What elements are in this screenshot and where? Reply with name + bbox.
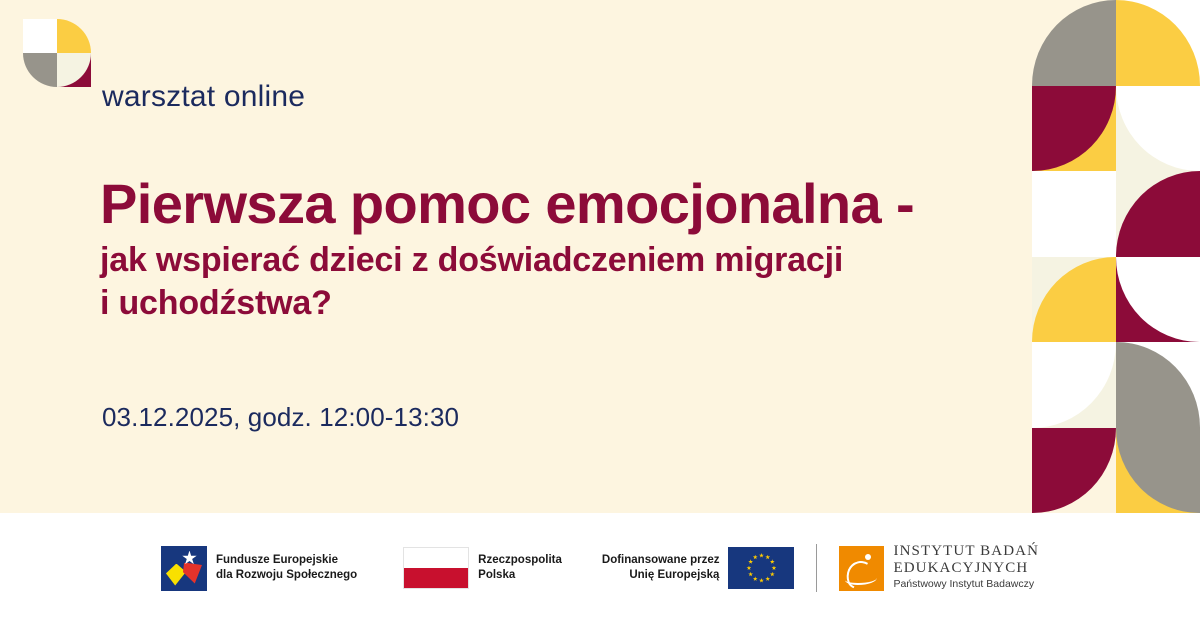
ue-caption: Dofinansowane przez Unię Europejską <box>602 553 720 583</box>
event-kicker: warsztat online <box>102 80 305 114</box>
ibe-brand-mark-icon <box>23 19 91 87</box>
pattern-cell-r4-c1 <box>1116 342 1200 428</box>
eu-star-icon <box>748 572 753 577</box>
eu-star-icon <box>748 559 753 564</box>
ue-caption-line-1: Dofinansowane przez <box>602 553 720 568</box>
logo-rzeczpospolita-polska: Rzeczpospolita Polska <box>403 547 562 589</box>
pattern-cell-r3-c1 <box>1116 257 1200 343</box>
footer-logo-strip: Fundusze Europejskie dla Rozwoju Społecz… <box>0 513 1200 627</box>
fe-red-arrow-icon <box>183 563 202 584</box>
fe-yellow-arrow-icon <box>166 564 186 586</box>
brandmark-quadrant-top-right <box>57 19 91 53</box>
brandmark-quadrant-top-left <box>23 19 57 53</box>
footer-divider <box>816 544 817 592</box>
page-subtitle-line-2: i uchodźstwa? <box>100 282 1000 325</box>
rzeczpospolita-caption: Rzeczpospolita Polska <box>478 553 562 583</box>
eu-star-icon <box>771 566 776 571</box>
ue-caption-line-2: Unię Europejską <box>602 568 720 583</box>
decorative-pattern <box>1032 0 1200 513</box>
pattern-cell-r3-c0 <box>1032 257 1116 343</box>
eu-star-icon <box>753 555 758 560</box>
pattern-cell-r2-c1 <box>1116 171 1200 257</box>
logo-fundusze-europejskie: Fundusze Europejskie dla Rozwoju Społecz… <box>161 546 357 591</box>
pattern-cell-r5-c0 <box>1032 428 1116 514</box>
ibe-figure-dot-icon <box>865 554 871 560</box>
pattern-cell-shape-square <box>1032 171 1116 257</box>
eu-star-icon <box>746 566 751 571</box>
ibe-caption: INSTYTUT BADAŃ EDUKACYJNYCH Państwowy In… <box>893 543 1039 592</box>
ibe-logo-icon <box>839 546 884 591</box>
ibe-caption-line-1: INSTYTUT BADAŃ <box>893 543 1039 560</box>
ibe-caption-line-2: EDUKACYJNYCH <box>893 560 1039 577</box>
eu-star-icon <box>765 576 770 581</box>
event-datetime: 03.12.2025, godz. 12:00-13:30 <box>102 402 459 433</box>
rp-caption-line-2: Polska <box>478 568 562 583</box>
pattern-cell-r1-c1 <box>1116 86 1200 172</box>
european-union-flag-icon <box>728 547 794 589</box>
pattern-cell-r2-c0 <box>1032 171 1116 257</box>
fe-caption-line-1: Fundusze Europejskie <box>216 553 357 568</box>
pattern-cell-r5-c1 <box>1116 428 1200 514</box>
event-banner: warsztat online Pierwsza pomoc emocjonal… <box>0 0 1200 627</box>
logo-row: Fundusze Europejskie dla Rozwoju Społecz… <box>0 539 1200 597</box>
page-subtitle: jak wspierać dzieci z doświadczeniem mig… <box>100 239 1000 324</box>
brandmark-quadrant-bottom-left <box>23 53 57 87</box>
eu-star-icon <box>770 559 775 564</box>
pattern-cell-r0-c1 <box>1116 0 1200 86</box>
rp-caption-line-1: Rzeczpospolita <box>478 553 562 568</box>
page-subtitle-line-1: jak wspierać dzieci z doświadczeniem mig… <box>100 239 1000 282</box>
eu-star-icon <box>759 553 764 558</box>
eu-star-icon <box>753 576 758 581</box>
pattern-cell-r1-c0 <box>1032 86 1116 172</box>
title-block: Pierwsza pomoc emocjonalna - jak wspiera… <box>100 174 1000 324</box>
pattern-cell-r0-c0 <box>1032 0 1116 86</box>
fe-caption-line-2: dla Rozwoju Społecznego <box>216 568 357 583</box>
logo-dofinansowane-przez-ue: Dofinansowane przez Unię Europejską <box>602 547 795 589</box>
eu-star-icon <box>759 578 764 583</box>
pattern-cell-r4-c0 <box>1032 342 1116 428</box>
fundusze-europejskie-caption: Fundusze Europejskie dla Rozwoju Społecz… <box>216 553 357 583</box>
fundusze-europejskie-icon <box>161 546 207 591</box>
logo-instytut-badan-edukacyjnych: INSTYTUT BADAŃ EDUKACYJNYCH Państwowy In… <box>839 543 1039 592</box>
eu-star-icon <box>770 572 775 577</box>
ibe-caption-line-3: Państwowy Instytut Badawczy <box>893 577 1039 593</box>
poland-flag-icon <box>403 547 469 589</box>
page-title: Pierwsza pomoc emocjonalna - <box>100 174 1000 233</box>
eu-star-icon <box>765 555 770 560</box>
